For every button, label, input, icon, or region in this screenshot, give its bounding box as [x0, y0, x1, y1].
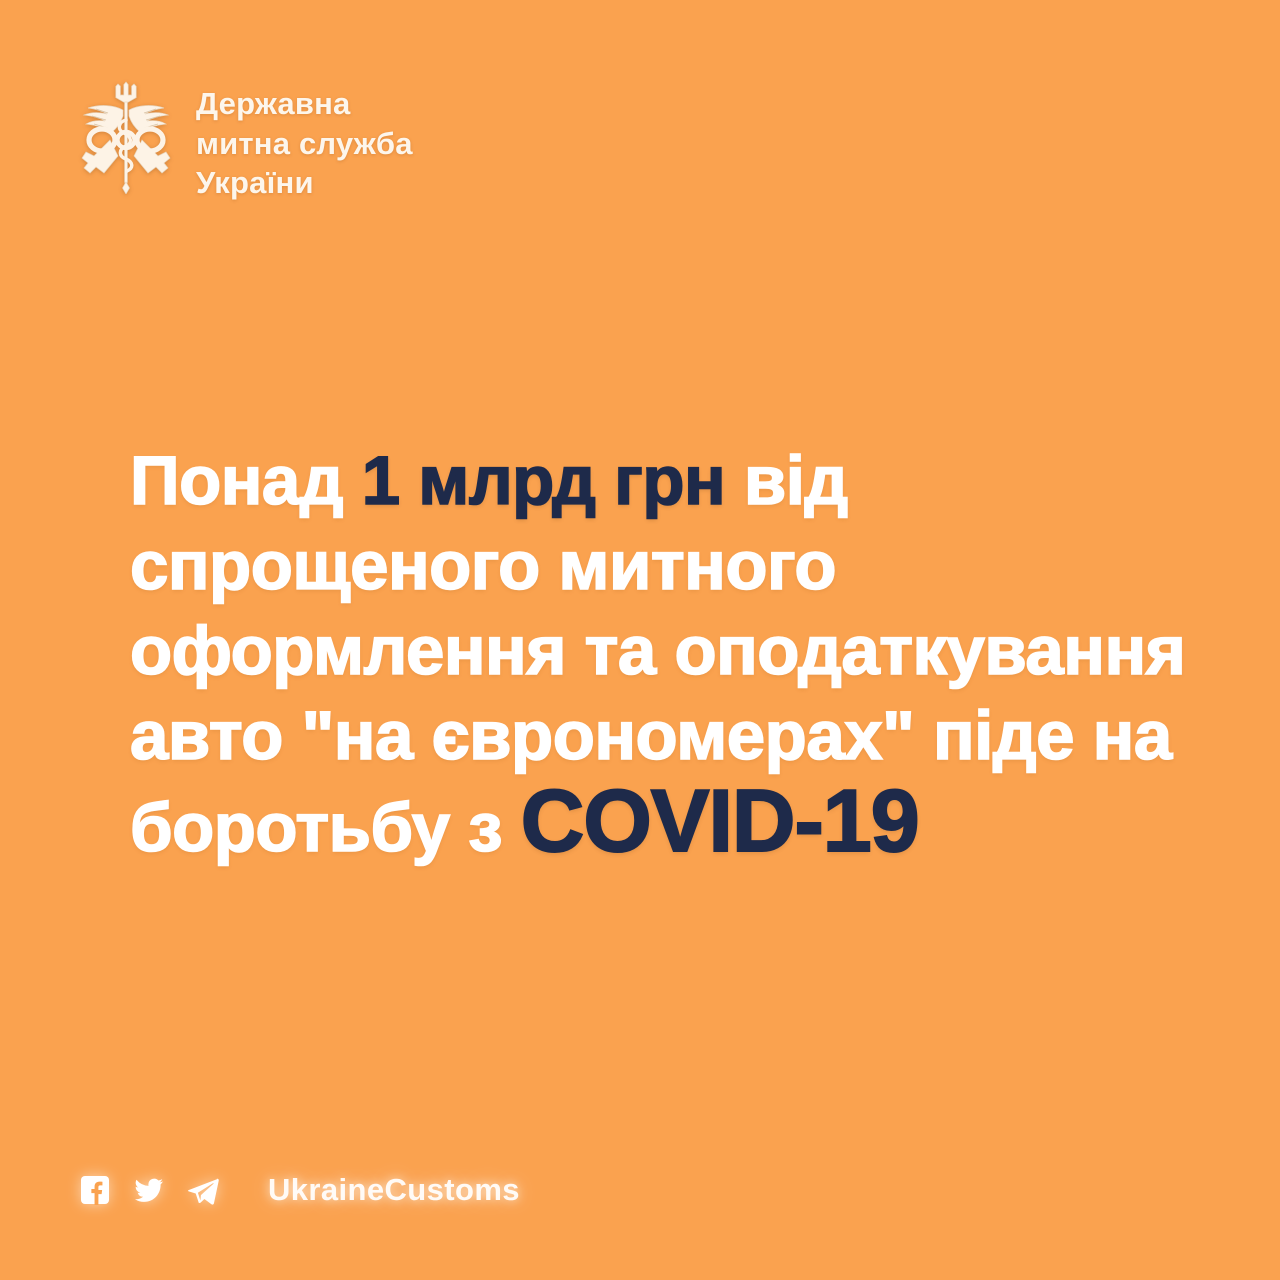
- headline-line-1: Понад 1 млрд грн від: [130, 438, 1250, 523]
- headline: Понад 1 млрд грн від спрощеного митного …: [130, 438, 1250, 870]
- footer-social-bar: UkraineCustoms: [78, 1172, 520, 1208]
- logo-wordmark: Державна митна служба України: [196, 78, 413, 203]
- facebook-icon[interactable]: [78, 1173, 112, 1207]
- headline-line-5: боротьбу з COVID-19: [130, 778, 1250, 870]
- logo-line-2: митна служба: [196, 124, 413, 164]
- headline-segment-plain: від: [725, 442, 848, 519]
- headline-segment-plain: боротьбу з: [130, 789, 521, 866]
- social-card-canvas: { "colors": { "background": "#FAA24F", "…: [0, 0, 1280, 1280]
- headline-amount-accent: 1 млрд грн: [362, 442, 725, 519]
- logo-line-1: Державна: [196, 84, 413, 124]
- ukraine-customs-emblem: [74, 78, 178, 194]
- headline-line-2: спрощеного митного: [130, 523, 1250, 608]
- telegram-icon[interactable]: [186, 1173, 220, 1207]
- headline-covid-accent: COVID-19: [521, 771, 919, 870]
- social-handle[interactable]: UkraineCustoms: [268, 1172, 520, 1208]
- headline-segment-plain: Понад: [130, 442, 362, 519]
- headline-line-4: авто "на єврономерах" піде на: [130, 693, 1250, 778]
- twitter-icon[interactable]: [132, 1173, 166, 1207]
- logo-block: Державна митна служба України: [74, 78, 413, 203]
- headline-line-3: оформлення та оподаткування: [130, 608, 1250, 693]
- logo-line-3: України: [196, 163, 413, 203]
